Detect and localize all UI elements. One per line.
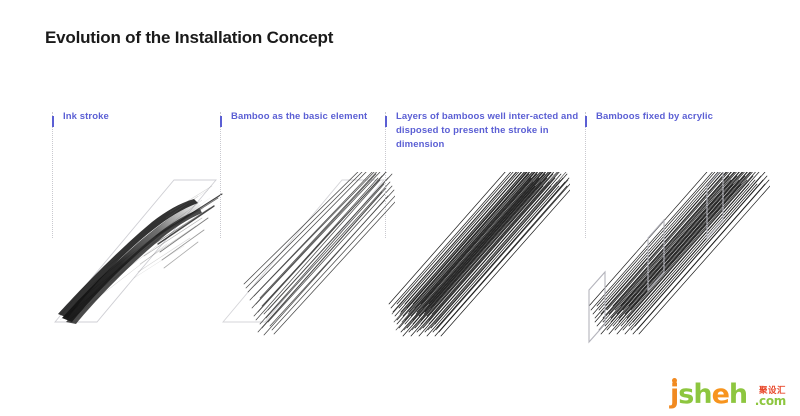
logo-letter-s: s <box>678 379 693 410</box>
layered-bamboo-illustration <box>385 172 570 342</box>
bamboo-bundle-dense <box>389 172 570 336</box>
ink-stroke-illustration <box>52 172 227 342</box>
logo-letter-h2: h <box>729 379 747 410</box>
bamboo-sticks-sparse <box>244 172 395 335</box>
logo-domain-text: .com <box>755 395 786 407</box>
logo-chinese-text: 聚设汇 <box>759 386 786 395</box>
caption-acrylic-fixed: Bamboos fixed by acrylic <box>596 110 713 124</box>
caption-layered-bamboo: Layers of bamboos well inter-acted and d… <box>396 110 585 152</box>
acrylic-fixed-bamboo-illustration <box>585 172 770 352</box>
caption-bamboo-element: Bamboo as the basic element <box>231 110 367 124</box>
acrylic-plate-left <box>589 272 605 342</box>
caption-ink-stroke: Ink stroke <box>63 110 109 124</box>
logo-wordmark: jsheh <box>670 381 747 408</box>
bamboo-bundle-fixed <box>589 172 770 334</box>
ink-brush-body <box>58 199 204 324</box>
logo-letter-e: e <box>712 379 729 410</box>
page-title: Evolution of the Installation Concept <box>45 28 333 48</box>
site-watermark-logo: jsheh 聚设汇 .com <box>670 370 786 410</box>
bamboo-element-illustration <box>220 172 395 342</box>
logo-letter-h1: h <box>693 379 711 410</box>
